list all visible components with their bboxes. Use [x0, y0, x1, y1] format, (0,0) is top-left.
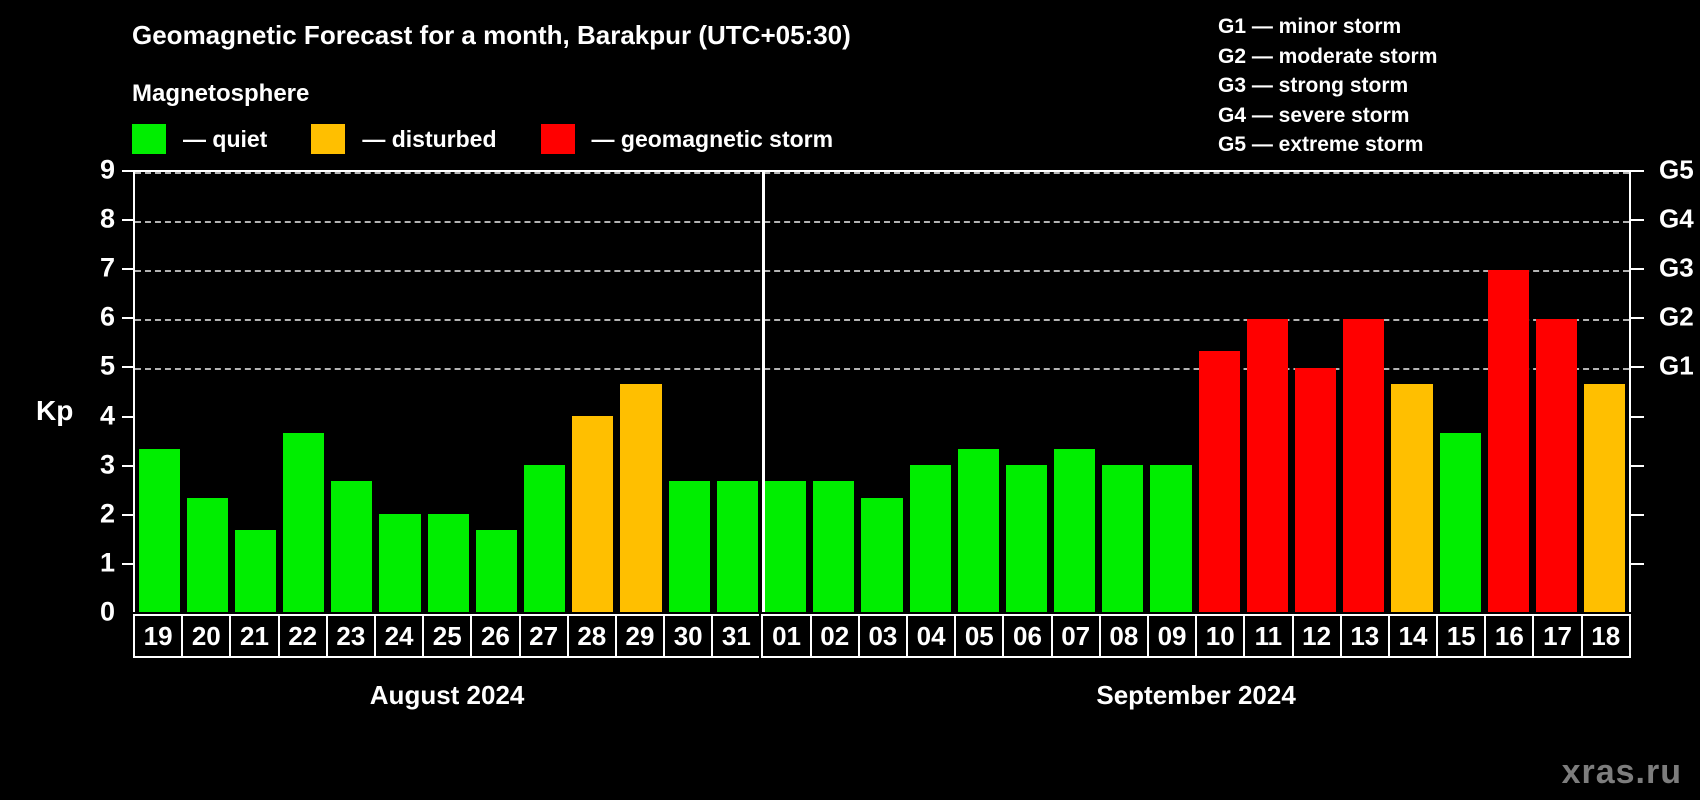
bar-slot — [1099, 172, 1147, 612]
date-cell-24: 24 — [374, 614, 422, 658]
month-label-september: September 2024 — [761, 680, 1631, 711]
bar-20 — [187, 498, 228, 612]
bar-slot — [1243, 172, 1291, 612]
date-cell-11: 11 — [1243, 614, 1291, 658]
y-tick-label-3: 3 — [55, 449, 115, 480]
bar-slot — [472, 172, 520, 612]
date-cell-10: 10 — [1195, 614, 1243, 658]
color-legend: — quiet— disturbed— geomagnetic storm — [132, 124, 877, 154]
bar-30 — [669, 481, 710, 612]
bar-06 — [1006, 465, 1047, 612]
y-tick-label-6: 6 — [55, 302, 115, 333]
bar-slot — [1195, 172, 1243, 612]
bar-slot — [906, 172, 954, 612]
y-tick-label-5: 5 — [55, 351, 115, 382]
month-divider — [762, 172, 765, 612]
date-cell-15: 15 — [1436, 614, 1484, 658]
bar-13 — [1343, 319, 1384, 612]
bar-03 — [861, 498, 902, 612]
g-tick-mark-G2 — [1631, 317, 1644, 319]
bar-18 — [1584, 384, 1625, 612]
bar-slot — [1147, 172, 1195, 612]
bar-slot — [424, 172, 472, 612]
date-cell-28: 28 — [567, 614, 615, 658]
y-tick-label-9: 9 — [55, 155, 115, 186]
date-cell-03: 03 — [858, 614, 906, 658]
date-cell-29: 29 — [615, 614, 663, 658]
bar-slot — [858, 172, 906, 612]
legend-label: — disturbed — [362, 126, 496, 153]
date-cell-30: 30 — [663, 614, 711, 658]
g-tick-label-G2: G2 — [1659, 302, 1694, 333]
legend-label: — geomagnetic storm — [592, 126, 834, 153]
bar-23 — [331, 481, 372, 612]
bar-26 — [476, 530, 517, 612]
plot-area — [133, 170, 1631, 612]
green-square-icon — [132, 124, 166, 154]
date-cell-12: 12 — [1292, 614, 1340, 658]
legend-item-quiet: — quiet — [132, 124, 267, 154]
date-cell-22: 22 — [278, 614, 326, 658]
date-cell-25: 25 — [422, 614, 470, 658]
page-title: Geomagnetic Forecast for a month, Barakp… — [132, 20, 851, 51]
bar-01 — [765, 481, 806, 612]
g-scale-row-1: G1 — minor storm — [1218, 12, 1437, 42]
bar-slot — [665, 172, 713, 612]
g-scale-row-2: G2 — moderate storm — [1218, 42, 1437, 72]
bar-slot — [1051, 172, 1099, 612]
bar-02 — [813, 481, 854, 612]
g-tick-label-G4: G4 — [1659, 204, 1694, 235]
g-tick-mark-G1 — [1631, 366, 1644, 368]
date-cell-21: 21 — [229, 614, 277, 658]
y-tick-label-0: 0 — [55, 597, 115, 628]
date-cell-02: 02 — [810, 614, 858, 658]
bar-slot — [617, 172, 665, 612]
bar-slot — [376, 172, 424, 612]
bar-slot — [521, 172, 569, 612]
g-scale-legend: G1 — minor stormG2 — moderate stormG3 — … — [1218, 12, 1437, 160]
bar-slot — [1292, 172, 1340, 612]
legend-item-disturbed: — disturbed — [311, 124, 496, 154]
right-tick-mark-kp-4 — [1631, 416, 1644, 418]
chart-subtitle: Magnetosphere — [132, 80, 309, 108]
bar-10 — [1199, 351, 1240, 612]
g-tick-mark-G4 — [1631, 219, 1644, 221]
bar-07 — [1054, 449, 1095, 612]
month-label-august: August 2024 — [133, 680, 761, 711]
bar-31 — [717, 481, 758, 612]
y-tick-label-8: 8 — [55, 204, 115, 235]
date-cell-20: 20 — [181, 614, 229, 658]
bar-14 — [1391, 384, 1432, 612]
bar-29 — [620, 384, 661, 612]
date-cell-27: 27 — [519, 614, 567, 658]
bar-slot — [569, 172, 617, 612]
date-cell-16: 16 — [1484, 614, 1532, 658]
orange-square-icon — [311, 124, 345, 154]
bar-slot — [954, 172, 1002, 612]
bar-slot — [1002, 172, 1050, 612]
g-tick-mark-G3 — [1631, 268, 1644, 270]
bar-slot — [761, 172, 809, 612]
date-cell-09: 09 — [1147, 614, 1195, 658]
right-tick-mark-kp-3 — [1631, 465, 1644, 467]
bar-slot — [1581, 172, 1629, 612]
y-tick-label-1: 1 — [55, 547, 115, 578]
bar-04 — [910, 465, 951, 612]
y-tick-label-4: 4 — [55, 400, 115, 431]
date-cell-19: 19 — [133, 614, 181, 658]
g-tick-mark-G5 — [1631, 170, 1644, 172]
g-scale-row-5: G5 — extreme storm — [1218, 130, 1437, 160]
y-tick-label-7: 7 — [55, 253, 115, 284]
date-cell-04: 04 — [906, 614, 954, 658]
bar-slot — [1484, 172, 1532, 612]
bar-slot — [183, 172, 231, 612]
bar-16 — [1488, 270, 1529, 612]
bar-12 — [1295, 368, 1336, 612]
bar-19 — [139, 449, 180, 612]
bar-11 — [1247, 319, 1288, 612]
geomagnetic-forecast-chart: Geomagnetic Forecast for a month, Barakp… — [0, 0, 1700, 800]
date-cell-08: 08 — [1099, 614, 1147, 658]
bar-slot — [280, 172, 328, 612]
g-tick-label-G3: G3 — [1659, 253, 1694, 284]
bar-slot — [1388, 172, 1436, 612]
bar-slot — [1436, 172, 1484, 612]
date-cell-31: 31 — [711, 614, 759, 658]
bar-15 — [1440, 433, 1481, 612]
g-tick-label-G1: G1 — [1659, 351, 1694, 382]
bar-22 — [283, 433, 324, 612]
bar-slot — [135, 172, 183, 612]
g-scale-row-3: G3 — strong storm — [1218, 71, 1437, 101]
bar-05 — [958, 449, 999, 612]
date-cell-26: 26 — [470, 614, 518, 658]
bar-25 — [428, 514, 469, 612]
red-square-icon — [541, 124, 575, 154]
date-axis: 1920212223242526272829303101020304050607… — [133, 614, 1631, 658]
g-scale-row-4: G4 — severe storm — [1218, 101, 1437, 131]
bar-slot — [328, 172, 376, 612]
bar-08 — [1102, 465, 1143, 612]
legend-label: — quiet — [183, 126, 267, 153]
date-cell-23: 23 — [326, 614, 374, 658]
bar-28 — [572, 416, 613, 612]
bar-21 — [235, 530, 276, 612]
right-tick-mark-kp-1 — [1631, 563, 1644, 565]
watermark: xras.ru — [1562, 753, 1682, 792]
g-tick-label-G5: G5 — [1659, 155, 1694, 186]
date-cell-01: 01 — [761, 614, 809, 658]
legend-item-geomagneticstorm: — geomagnetic storm — [541, 124, 834, 154]
bar-slot — [1532, 172, 1580, 612]
y-tick-label-2: 2 — [55, 498, 115, 529]
bar-series — [135, 172, 1629, 612]
bar-slot — [1340, 172, 1388, 612]
date-cell-06: 06 — [1002, 614, 1050, 658]
date-cell-18: 18 — [1581, 614, 1631, 658]
date-cell-07: 07 — [1051, 614, 1099, 658]
date-cell-14: 14 — [1388, 614, 1436, 658]
bar-27 — [524, 465, 565, 612]
right-tick-mark-kp-2 — [1631, 514, 1644, 516]
bar-slot — [713, 172, 761, 612]
bar-17 — [1536, 319, 1577, 612]
date-cell-05: 05 — [954, 614, 1002, 658]
bar-09 — [1150, 465, 1191, 612]
date-cell-17: 17 — [1532, 614, 1580, 658]
bar-slot — [231, 172, 279, 612]
bar-slot — [810, 172, 858, 612]
bar-24 — [379, 514, 420, 612]
date-cell-13: 13 — [1340, 614, 1388, 658]
